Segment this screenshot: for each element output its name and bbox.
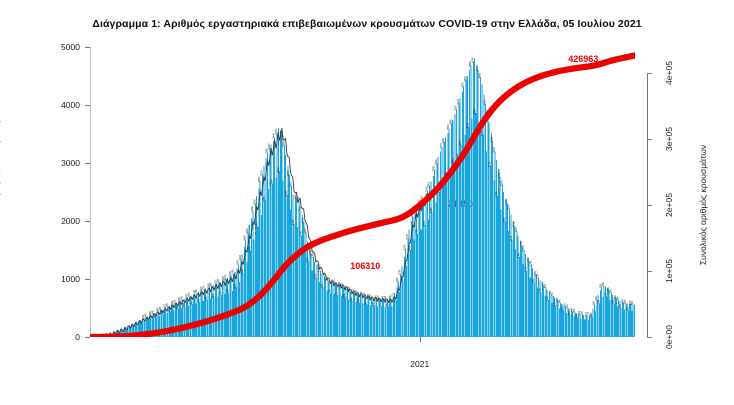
svg-text:700: 700 [188,292,191,297]
svg-text:385: 385 [580,310,583,315]
svg-text:2160: 2160 [430,207,433,213]
svg-text:3860: 3860 [474,108,477,114]
svg-text:3920: 3920 [454,105,457,111]
svg-text:2200: 2200 [508,204,511,210]
y-axis-left-title: Αριθμός νέων κρουσμάτων [0,99,1,201]
y-axis-right-tick-mark [647,73,652,74]
svg-text:340: 340 [590,313,593,318]
y-axis-right-tick-label: 4e+05 [664,61,674,85]
svg-text:1700: 1700 [406,233,409,239]
svg-text:2800: 2800 [287,170,290,176]
svg-text:640: 640 [546,296,549,301]
svg-text:2990: 2990 [435,159,438,165]
svg-text:1900: 1900 [256,222,259,228]
svg-text:1480: 1480 [248,246,251,252]
svg-text:560: 560 [365,300,368,305]
x-axis-tick-mark [420,337,421,342]
svg-text:1300: 1300 [307,257,310,263]
svg-text:1020: 1020 [537,273,540,279]
svg-text:1670: 1670 [510,235,513,241]
svg-text:640: 640 [181,296,184,301]
plot-area: 3253403854003404454603905055204405655804… [90,47,635,337]
svg-text:3680: 3680 [450,119,453,125]
svg-text:1780: 1780 [416,229,419,235]
svg-text:1930: 1930 [423,220,426,226]
svg-text:760: 760 [227,289,230,294]
svg-text:1520: 1520 [403,244,406,250]
svg-text:2950: 2950 [488,161,491,167]
svg-text:2850: 2850 [278,167,281,173]
plot-svg: 3253403854003404454603905055204405655804… [90,47,635,337]
svg-text:1910: 1910 [512,221,515,227]
svg-text:680: 680 [343,293,346,298]
svg-text:1500: 1500 [522,245,525,251]
svg-text:4480: 4480 [479,72,482,78]
y-axis-right-tick-label: 3e+05 [664,127,674,151]
svg-text:2450: 2450 [285,190,288,196]
svg-text:1820: 1820 [515,226,518,232]
svg-text:425: 425 [573,308,576,313]
y-axis-right-title: Συνολικός αριθμός κρουσμάτων [698,145,708,265]
y-axis-left-tick-mark [85,337,90,338]
svg-text:2880: 2880 [433,165,436,171]
svg-text:1100: 1100 [241,268,244,274]
svg-text:590: 590 [559,298,562,303]
svg-text:560: 560 [631,300,634,305]
svg-text:3360: 3360 [442,137,445,143]
svg-text:3320: 3320 [459,139,462,145]
svg-text:880: 880 [210,282,213,287]
y-axis-left-tick-label: 5000 [38,42,80,52]
svg-text:4030: 4030 [457,98,460,104]
svg-text:2180: 2180 [251,206,254,212]
svg-text:640: 640 [595,296,598,301]
svg-text:1990: 1990 [503,217,506,223]
svg-text:2620: 2620 [500,180,503,186]
svg-text:515: 515 [387,303,390,308]
svg-text:590: 590 [357,298,360,303]
y-axis-right-tick-mark [647,139,652,140]
svg-text:4020: 4020 [483,99,486,105]
svg-text:640: 640 [617,296,620,301]
svg-text:960: 960 [396,277,399,282]
svg-text:520: 520 [166,303,169,308]
svg-text:2430: 2430 [496,191,499,197]
svg-text:1340: 1340 [239,254,242,260]
svg-text:580: 580 [173,299,176,304]
svg-text:2800: 2800 [261,170,264,176]
svg-text:940: 940 [532,278,535,283]
svg-text:1000: 1000 [224,274,227,280]
svg-text:770: 770 [539,288,542,293]
y-axis-right-tick-label: 2e+05 [664,193,674,217]
y-axis-right-tick-mark [647,337,652,338]
chart-figure: Διάγραμμα 1: Αριθμός εργαστηριακά επιβεβ… [0,0,734,405]
svg-text:560: 560 [190,300,193,305]
svg-text:3520: 3520 [275,128,278,134]
svg-text:850: 850 [234,283,237,288]
svg-text:1950: 1950 [292,219,295,225]
svg-text:2600: 2600 [428,181,431,187]
svg-text:500: 500 [619,304,622,309]
svg-text:2300: 2300 [505,199,508,205]
svg-text:700: 700 [605,292,608,297]
y-axis-left-tick-label: 4000 [38,100,80,110]
svg-text:1800: 1800 [304,228,307,234]
svg-text:1090: 1090 [232,269,235,275]
y-axis-left-tick-label: 3000 [38,158,80,168]
y-axis-right-tick-mark [647,271,652,272]
x-axis-tick-label: 2021 [410,359,429,369]
svg-text:520: 520 [183,303,186,308]
svg-text:3300: 3300 [282,141,285,147]
svg-text:850: 850 [544,283,547,288]
svg-text:680: 680 [212,293,215,298]
svg-text:620: 620 [350,297,353,302]
y-axis-right-tick-mark [647,205,652,206]
svg-text:640: 640 [205,296,208,301]
svg-text:460: 460 [159,306,162,311]
svg-text:1240: 1240 [529,260,532,266]
moving-average-line [91,128,429,337]
svg-text:2350: 2350 [263,196,266,202]
svg-text:4600: 4600 [476,65,479,71]
svg-text:580: 580 [624,299,627,304]
bar-value-labels: 3253403854003404454603905055204405655804… [142,57,634,319]
y-axis-left-tick-label: 1000 [38,274,80,284]
y-axis-right-tick-label: 1e+05 [664,259,674,283]
svg-text:760: 760 [195,289,198,294]
y-axis-left-tick-label: 0 [38,332,80,342]
svg-text:525: 525 [379,302,382,307]
svg-text:720: 720 [219,291,222,296]
svg-text:1380: 1380 [517,252,520,258]
svg-text:1090: 1090 [399,269,402,275]
svg-text:3200: 3200 [493,146,496,152]
y-axis-right-tick-label: 0e+00 [664,325,674,349]
svg-text:1750: 1750 [299,231,302,237]
svg-text:4420: 4420 [464,76,467,82]
svg-text:1800: 1800 [246,228,249,234]
svg-text:710: 710 [551,292,554,297]
svg-text:3380: 3380 [491,136,494,142]
svg-text:3260: 3260 [268,143,271,149]
chart-title: Διάγραμμα 1: Αριθμός εργαστηριακά επιβεβ… [0,18,734,30]
svg-text:2600: 2600 [290,181,293,187]
svg-text:860: 860 [321,283,324,288]
svg-text:700: 700 [391,292,394,297]
svg-text:2760: 2760 [498,172,501,178]
svg-text:720: 720 [336,291,339,296]
svg-text:940: 940 [217,278,220,283]
y-axis-left-tick-label: 2000 [38,216,80,226]
svg-text:1140: 1140 [525,266,528,272]
svg-text:600: 600 [198,298,201,303]
svg-text:2300: 2300 [253,199,256,205]
svg-text:500: 500 [566,304,569,309]
svg-text:460: 460 [626,306,629,311]
svg-text:1020: 1020 [314,273,317,279]
svg-text:3480: 3480 [481,130,484,136]
svg-text:3620: 3620 [466,122,469,128]
svg-text:580: 580 [597,299,600,304]
svg-text:400: 400 [152,310,155,315]
svg-text:540: 540 [372,301,375,306]
svg-text:760: 760 [609,289,612,294]
svg-text:1680: 1680 [244,235,247,241]
svg-text:2650: 2650 [270,178,273,184]
svg-text:820: 820 [202,285,205,290]
svg-text:880: 880 [602,282,605,287]
svg-text:340: 340 [144,313,147,318]
svg-text:760: 760 [328,289,331,294]
svg-text:2690: 2690 [258,176,261,182]
svg-text:4750: 4750 [471,57,474,63]
